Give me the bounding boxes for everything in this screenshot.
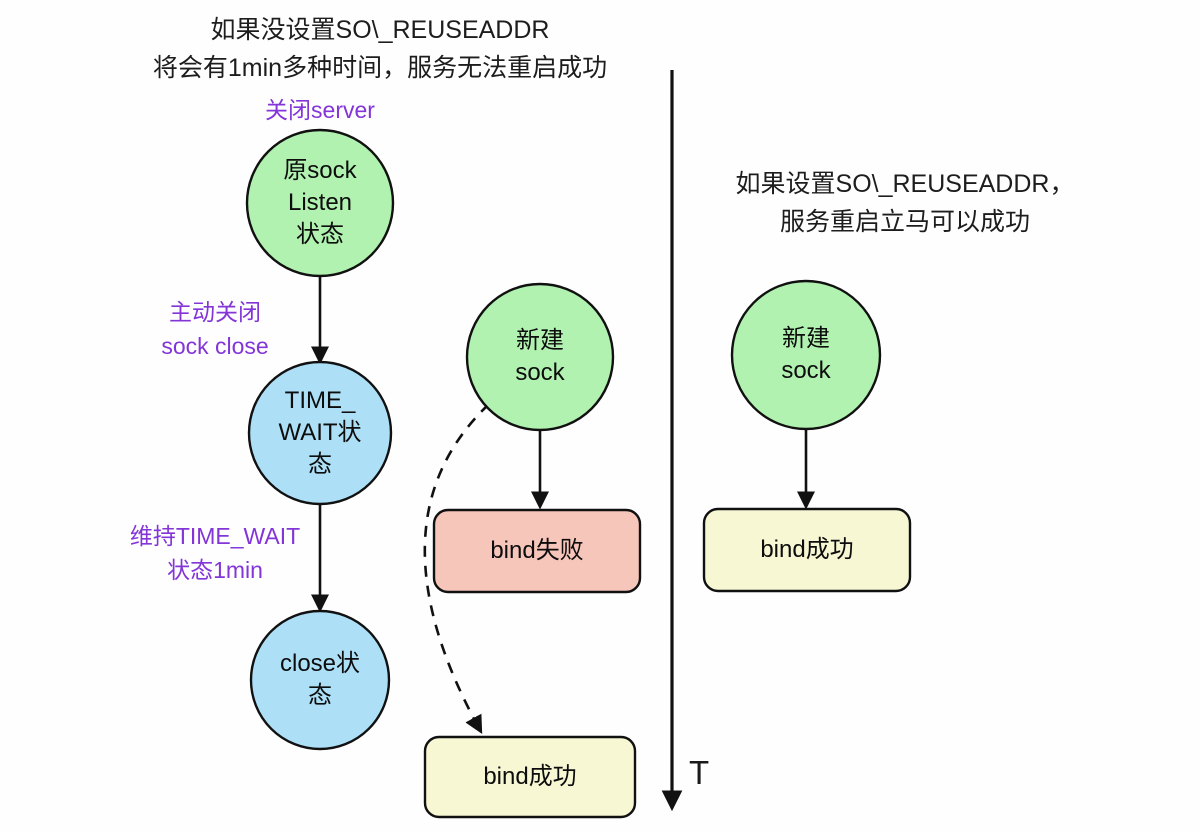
node-new-sock-right[interactable] xyxy=(732,281,880,429)
node-close-state[interactable] xyxy=(251,611,389,749)
edge-label-keep-timewait-line2: 状态1min xyxy=(100,556,330,586)
diagram-shapes-layer xyxy=(0,0,1200,832)
heading-left-line1: 如果没设置SO\_REUSEADDR xyxy=(130,14,630,47)
node-bind-fail[interactable] xyxy=(434,510,640,592)
edge-label-active-close-line1: 主动关闭 xyxy=(125,298,305,328)
diagram-canvas: 如果没设置SO\_REUSEADDR 将会有1min多种时间，服务无法重启成功 … xyxy=(0,0,1200,832)
node-bind-success-right[interactable] xyxy=(704,509,910,591)
node-new-sock-middle[interactable] xyxy=(467,284,613,430)
node-bind-success-left[interactable] xyxy=(425,737,635,817)
edge-label-keep-timewait-line1: 维持TIME_WAIT xyxy=(100,522,330,552)
heading-right-line1: 如果设置SO\_REUSEADDR， xyxy=(705,168,1105,201)
node-orig-sock-listen[interactable] xyxy=(247,130,393,276)
heading-right-line2: 服务重启立马可以成功 xyxy=(705,206,1105,239)
time-axis-label: T xyxy=(689,752,709,795)
node-time-wait[interactable] xyxy=(249,362,391,504)
edge-label-close-server: 关闭server xyxy=(215,96,425,126)
edge-label-active-close-line2: sock close xyxy=(125,332,305,362)
heading-left-line2: 将会有1min多种时间，服务无法重启成功 xyxy=(80,52,680,85)
